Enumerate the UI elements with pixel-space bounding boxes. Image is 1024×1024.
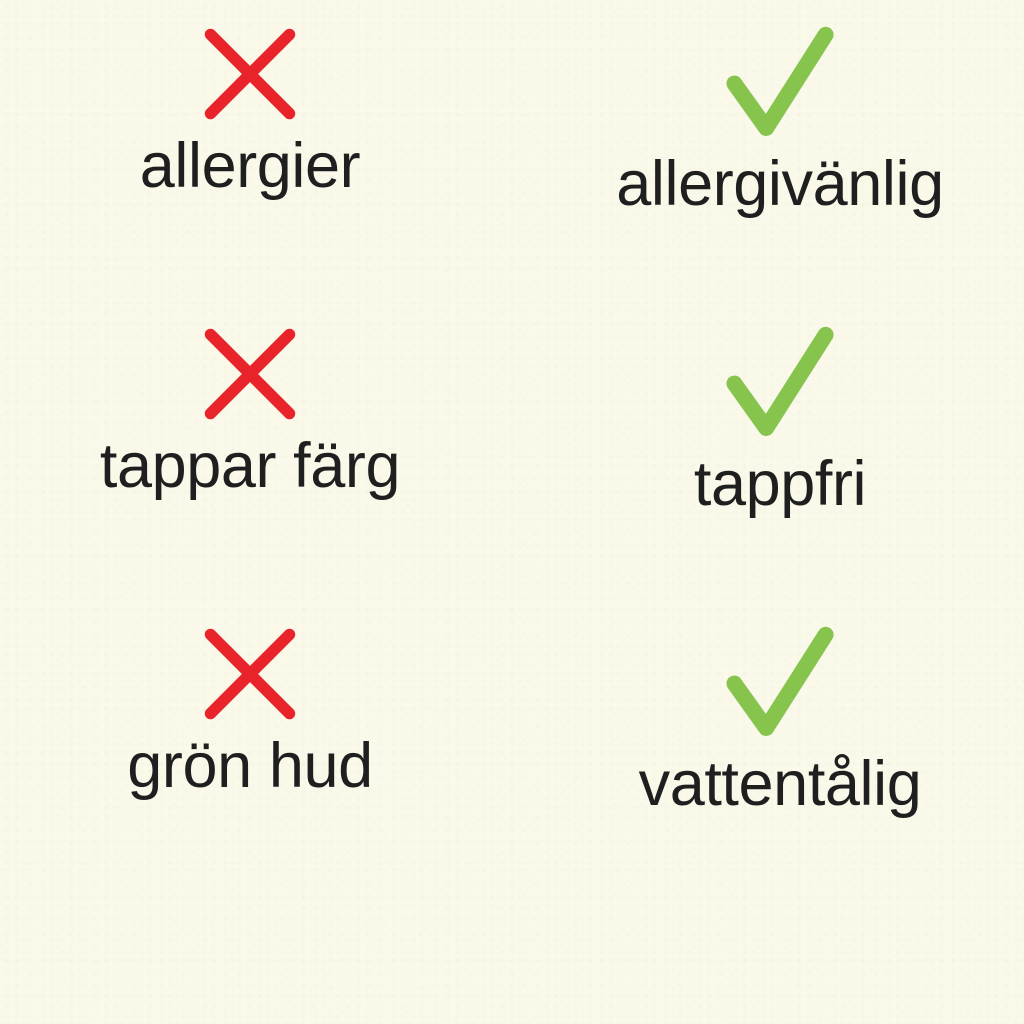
comparison-label: grön hud [127,732,373,800]
comparison-item-positive-2: tappfri [524,300,1024,600]
comparison-graphic: allergier allergivänlig tappar färg tapp… [0,0,1024,1024]
comparison-label: allergier [140,132,361,200]
check-icon [721,322,839,444]
comparison-label: allergivänlig [616,150,944,218]
comparison-item-negative-2: tappar färg [0,300,506,600]
comparison-item-positive-1: allergivänlig [524,0,1024,300]
cross-icon [198,622,302,726]
comparison-item-negative-3: grön hud [0,600,506,900]
comparison-label: vattentålig [639,750,922,818]
comparison-label: tappfri [694,450,866,518]
comparison-label: tappar färg [100,432,400,500]
comparison-item-negative-1: allergier [0,0,506,300]
cross-icon [198,22,302,126]
check-icon [721,22,839,144]
comparison-item-positive-3: vattentålig [524,600,1024,900]
comparison-grid: allergier allergivänlig tappar färg tapp… [0,0,1024,900]
cross-icon [198,322,302,426]
check-icon [721,622,839,744]
